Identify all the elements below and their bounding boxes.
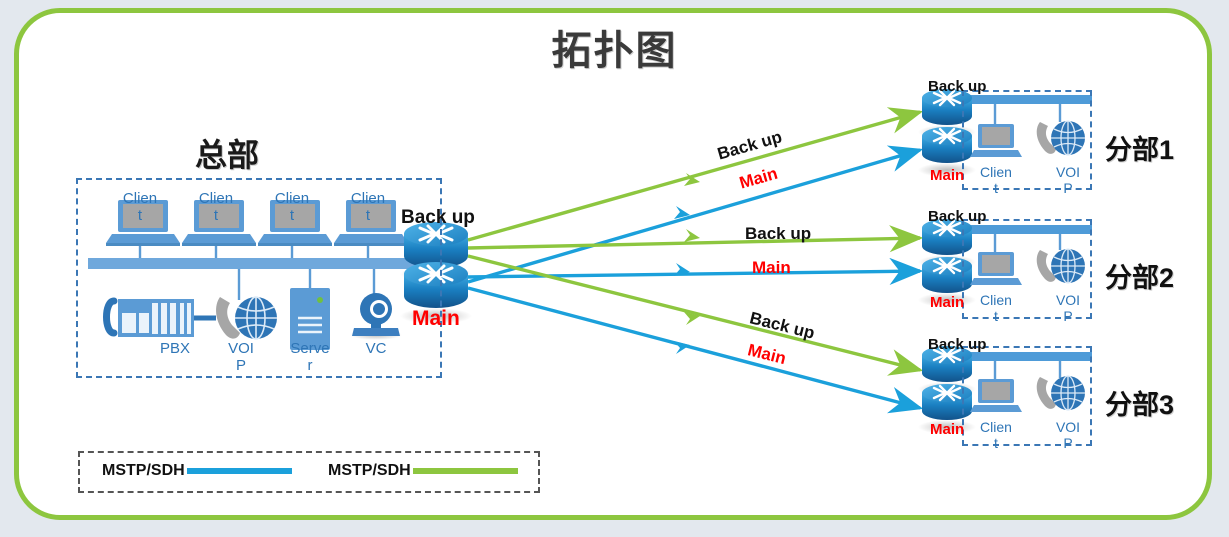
hq-client-label-3: Clien t <box>264 190 320 224</box>
hq-server-label-line1: Serve <box>290 340 329 357</box>
branch1-backup-label: Back up <box>928 78 986 95</box>
branch2-client-label: Clien t <box>968 292 1024 324</box>
hq-client-label-2-line2: t <box>214 207 218 224</box>
hq-pbx-label-line1: PBX <box>160 340 190 357</box>
page-title: 拓扑图 <box>0 18 1229 76</box>
hq-router-backup-label: Back up <box>401 207 475 229</box>
legend-item-main: MSTP/SDH <box>102 462 292 480</box>
branch1-client-label-line2: t <box>994 180 998 196</box>
branch2-name: 分部2 <box>1105 256 1174 295</box>
hq-server-label: Serve r <box>275 340 345 374</box>
hq-client-label-1: Clien t <box>112 190 168 224</box>
hq-server-label-line2: r <box>308 357 313 374</box>
branch3-backup-label: Back up <box>928 336 986 353</box>
branch3-voip-label-line1: VOI <box>1056 419 1080 435</box>
hq-client-label-2: Clien t <box>188 190 244 224</box>
hq-heading: 总部 <box>195 130 259 176</box>
branch1-voip-label-line1: VOI <box>1056 164 1080 180</box>
branch1-client-label: Clien t <box>968 164 1024 196</box>
branch2-backup-label: Back up <box>928 208 986 225</box>
legend-label-main: MSTP/SDH <box>102 462 185 480</box>
branch2-client-label-line2: t <box>994 308 998 324</box>
branch1-name: 分部1 <box>1105 128 1174 167</box>
link-main-label-branch2: Main <box>752 258 791 278</box>
hq-client-label-3-line2: t <box>290 207 294 224</box>
hq-pbx-label: PBX <box>140 340 210 357</box>
branch1-client-label-line1: Clien <box>980 164 1012 180</box>
branch2-main-label: Main <box>930 294 964 311</box>
branch3-client-label: Clien t <box>968 419 1024 451</box>
hq-client-label-1-line2: t <box>138 207 142 224</box>
hq-client-label-3-line1: Clien <box>275 190 309 207</box>
branch2-client-label-line1: Clien <box>980 292 1012 308</box>
branch3-client-label-line2: t <box>994 435 998 451</box>
branch1-voip-label-line2: P <box>1063 180 1072 196</box>
hq-client-label-2-line1: Clien <box>199 190 233 207</box>
legend: MSTP/SDH MSTP/SDH <box>78 451 540 493</box>
branch2-voip-label-line1: VOI <box>1056 292 1080 308</box>
hq-router-main-label: Main <box>412 307 460 331</box>
branch2-voip-label-line2: P <box>1063 308 1072 324</box>
legend-label-backup: MSTP/SDH <box>328 462 411 480</box>
branch3-main-label: Main <box>930 421 964 438</box>
legend-swatch-backup <box>413 468 518 474</box>
hq-voip-label-line1: VOI <box>228 340 254 357</box>
link-backup-label-branch2: Back up <box>745 224 811 244</box>
hq-vc-label: VC <box>341 340 411 357</box>
branch3-voip-label-line2: P <box>1063 435 1072 451</box>
topology-diagram: 拓扑图 <box>0 0 1229 537</box>
hq-client-label-4: Clien t <box>340 190 396 224</box>
branch3-name: 分部3 <box>1105 383 1174 422</box>
branch1-voip-label: VOI P <box>1040 164 1096 196</box>
legend-swatch-main <box>187 468 292 474</box>
hq-client-label-4-line2: t <box>366 207 370 224</box>
branch1-main-label: Main <box>930 167 964 184</box>
hq-client-label-1-line1: Clien <box>123 190 157 207</box>
legend-item-backup: MSTP/SDH <box>328 462 518 480</box>
branch2-voip-label: VOI P <box>1040 292 1096 324</box>
hq-vc-label-line1: VC <box>366 340 387 357</box>
hq-voip-label: VOI P <box>206 340 276 374</box>
hq-client-label-4-line1: Clien <box>351 190 385 207</box>
branch3-client-label-line1: Clien <box>980 419 1012 435</box>
branch3-voip-label: VOI P <box>1040 419 1096 451</box>
hq-voip-label-line2: P <box>236 357 246 374</box>
